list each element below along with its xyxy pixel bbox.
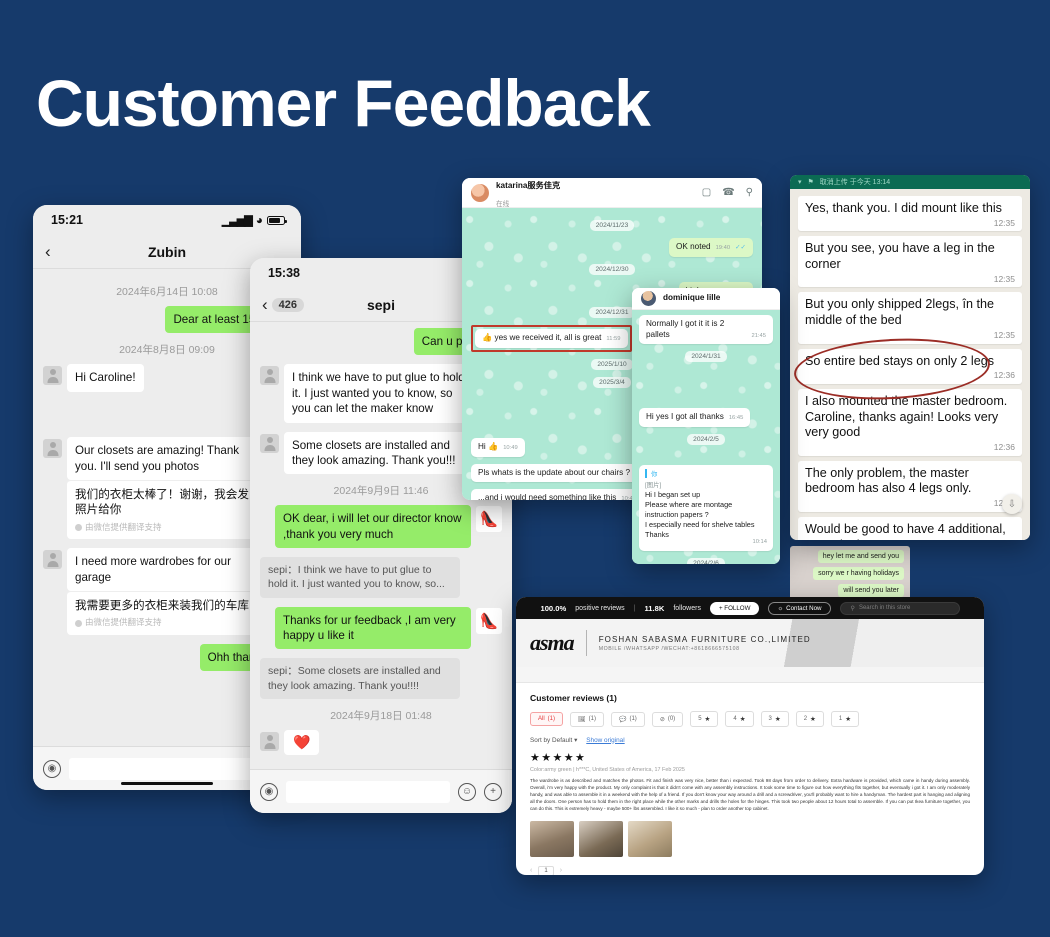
voice-record-icon[interactable]: ◉ (43, 760, 61, 778)
search-placeholder: Search in this store (859, 605, 910, 611)
date-divider: 2024/12/30 (589, 264, 634, 275)
message-time: 12:36 (805, 370, 1015, 381)
message-bubble-translation: 我们的衣柜太棒了！谢谢，我会发照片给你 由微信提供翻译支持 (67, 480, 263, 539)
message-time: 12:36 (805, 442, 1015, 453)
store-logo: asma (530, 630, 574, 656)
review-sort-row: Sort by Default ▾ Show original (530, 736, 970, 744)
message-text: Normally I got it it is 2 pallets (646, 319, 746, 340)
message-bubble-outgoing: hey let me and send you (818, 550, 904, 563)
review-photo-3[interactable] (628, 821, 672, 857)
message-text: But you see, you have a leg in the corne… (805, 241, 995, 271)
message-row: 你 [图片] Hi I began set up Please where ar… (639, 465, 773, 551)
filter-chip-1-star[interactable]: 1★ (831, 711, 859, 727)
emoji-smiley-icon[interactable]: ☺ (458, 783, 476, 801)
message-time: 12:37 (805, 498, 1015, 509)
phone-call-icon[interactable]: ☎ (722, 187, 734, 198)
message-bubble-outgoing: OK noted 19:40 ✓✓ (669, 238, 753, 257)
message-time: 10:49 (503, 445, 518, 453)
page-title: Customer Feedback (36, 70, 650, 136)
contact-name: dominique lille (663, 293, 720, 303)
filter-chip-all[interactable]: All(1) (530, 712, 563, 726)
translation-text: 我们的衣柜太棒了！谢谢，我会发照片给你 (75, 488, 249, 516)
avatar (260, 366, 279, 385)
message-bubble-incoming: Hi yes I got all thanks 16:45 (639, 408, 750, 427)
avatar (260, 434, 279, 453)
filter-chip-with-image[interactable]: 🖼(1) (570, 712, 604, 727)
message-row: ❤️ (260, 730, 502, 755)
message-text: Hi 👍 (478, 442, 498, 453)
message-bubble-incoming: I need more wardrobes for our garage (67, 548, 263, 591)
high-heel-sticker-icon: 👠 (476, 506, 502, 532)
upload-status-bar: ▾ ⚑ 取消上传 于今天 13:14 (790, 175, 1030, 189)
message-input[interactable] (69, 758, 265, 780)
quoted-message: sepi：I think we have to put glue to hold… (260, 557, 460, 597)
message-text: I also mounted the master bedroom. Carol… (805, 394, 1007, 439)
message-text: Would be good to have 4 additional, to p… (805, 522, 1006, 540)
ios-status-bar: 15:21 ▁▃▅▇ ◕ (33, 205, 301, 235)
message-time: 10:14 (752, 539, 767, 547)
message-text: Hi I began set up Please where are monta… (645, 490, 767, 539)
date-divider: 2024/2/5 (687, 434, 725, 445)
status-time: 15:21 (51, 213, 83, 227)
avatar (641, 291, 656, 306)
message-bubble-outgoing: OK dear, i will let our director know ,t… (275, 505, 471, 548)
review-body-text: The wardrobe is as described and matches… (530, 778, 970, 813)
message-input[interactable] (286, 781, 450, 803)
poster-canvas: Customer Feedback 15:21 ▁▃▅▇ ◕ ‹ Zubin 2… (0, 0, 1050, 937)
positive-reviews-pct: 100.0% (540, 604, 566, 613)
date-divider: 2025/1/10 (591, 359, 632, 370)
contact-status: 在线 (496, 201, 509, 208)
upload-status-text: 取消上传 于今天 13:14 (820, 177, 890, 187)
filter-chip-4-star[interactable]: 4★ (725, 711, 753, 727)
followers-label: followers (673, 605, 701, 612)
translation-text: 我需要更多的衣柜来装我们的车库 (75, 599, 249, 612)
chevron-down-icon: ▾ (574, 737, 577, 744)
message-time: 11:59 (606, 336, 620, 344)
review-meta: Color:army green | h***C, United States … (530, 767, 970, 773)
chat-title: Zubin (148, 244, 186, 260)
sort-dropdown[interactable]: Sort by Default ▾ (530, 736, 577, 744)
flag-icon: ⚑ (808, 178, 814, 186)
store-banner: asma FOSHAN SABASMA FURNITURE CO.,LIMITE… (516, 619, 984, 667)
store-search-input[interactable]: ⚲ Search in this store (840, 602, 960, 615)
review-photo-2[interactable] (579, 821, 623, 857)
message-bubble-incoming: Yes, thank you. I did mount like this 12… (798, 196, 1022, 231)
message-bubble-incoming: ...and i would need something like this … (471, 489, 643, 500)
avatar (471, 184, 489, 202)
message-time: 19:40 (716, 245, 731, 253)
search-icon: ⚲ (851, 605, 855, 612)
current-page[interactable]: 1 (538, 866, 553, 875)
message-row: Thanks for ur feedback ,I am very happy … (260, 607, 502, 650)
filter-chip-3-star[interactable]: 3★ (761, 711, 789, 727)
date-divider: 2024/12/31 (589, 307, 634, 318)
message-row: OK noted 19:40 ✓✓ (471, 238, 753, 257)
battery-icon (267, 216, 285, 225)
signal-bars-icon: ▁▃▅▇ (222, 214, 252, 227)
chevron-down-icon: ▾ (798, 178, 802, 186)
review-filter-chips[interactable]: All(1) 🖼(1) 💬(1) ⊘(0) 5★ 4★ 3★ 2★ 1★ (530, 711, 970, 727)
message-text: ...and i would need something like this (478, 493, 616, 500)
message-bubble-incoming: The only problem, the master bedroom has… (798, 461, 1022, 512)
avatar (260, 732, 279, 751)
message-text: Yes, thank you. I did mount like this (805, 201, 1002, 215)
message-time: 12:35 (805, 330, 1015, 341)
message-text: Pls whats is the update about our chairs… (478, 468, 630, 479)
date-divider: 2024/1/31 (685, 351, 726, 362)
wifi-icon: ◕ (256, 213, 263, 227)
voice-record-icon[interactable]: ◉ (260, 783, 278, 801)
unread-badge: 426 (272, 298, 304, 312)
quote-preview: [图片] (645, 482, 661, 489)
contact-name: katarina服务佳克 (496, 181, 560, 190)
message-time: 16:45 (729, 415, 744, 423)
message-row: Hi yes I got all thanks 16:45 (639, 408, 773, 427)
home-indicator (121, 782, 213, 786)
follow-button[interactable]: + FOLLOW (710, 602, 759, 615)
message-bubble-incoming: Would be good to have 4 additional, to p… (798, 517, 1022, 540)
avatar (43, 366, 62, 385)
message-time: 12:35 (805, 274, 1015, 285)
back-button[interactable]: ‹ 426 (262, 295, 304, 315)
followers-count: 11.8K (644, 604, 664, 613)
message-bubble-incoming: Hi 👍 10:49 (471, 438, 525, 457)
message-time: 21:45 (751, 333, 766, 341)
translation-note: 由微信提供翻译支持 (75, 617, 255, 628)
chat-header-katarina: katarina服务佳克 在线 ▢ ☎ ⚲ (462, 178, 762, 208)
chat-bubble-icon: ☼ (777, 605, 783, 612)
message-bubble-incoming: Some closets are installed and they look… (284, 432, 480, 475)
divider (586, 630, 587, 656)
chevron-right-icon[interactable]: › (560, 867, 562, 874)
message-timestamp: 2024年9月18日 01:48 (260, 708, 502, 723)
quote-author: 你 (651, 471, 657, 478)
filter-chip-other[interactable]: ⊘(0) (652, 712, 683, 727)
chat-window-bed-feedback: ▾ ⚑ 取消上传 于今天 13:14 Yes, thank you. I did… (790, 175, 1030, 540)
message-bubble-outgoing: Thanks for ur feedback ,I am very happy … (275, 607, 471, 650)
contact-now-button[interactable]: ☼ Contact Now (768, 602, 830, 615)
message-bubble-emoji: ❤️ (284, 730, 319, 755)
positive-reviews-label: positive reviews (575, 605, 624, 612)
chat-input-bar[interactable]: ◉ ☺ + (250, 769, 512, 813)
chevron-left-icon[interactable]: ‹ (530, 867, 532, 874)
high-heel-sticker-icon: 👠 (476, 608, 502, 634)
read-receipt-icon: ✓✓ (735, 244, 746, 252)
store-topbar: 100.0% positive reviews | 11.8K follower… (516, 597, 984, 619)
message-text: 👍 yes we received it, all is great (482, 333, 601, 344)
message-bubble-incoming: But you only shipped 2legs, în the middl… (798, 292, 1022, 343)
message-text: But you only shipped 2legs, în the middl… (805, 297, 994, 327)
whatsapp-window-dominique: dominique lille Normally I got it it is … (632, 288, 780, 564)
divider: | (634, 605, 636, 612)
store-tabbar[interactable] (516, 667, 984, 683)
message-bubble-outgoing: will send you later (838, 584, 904, 597)
status-time: 15:38 (268, 266, 300, 280)
message-bubble-incoming: Our closets are amazing! Thank you. I'll… (67, 437, 263, 480)
reviews-pagination[interactable]: ‹ 1 › (530, 866, 970, 875)
message-bubble-translation: 我需要更多的衣柜来装我们的车库 由微信提供翻译支持 (67, 591, 263, 635)
message-bubble-incoming: So entire bed stays on only 2 legs 12:36 (798, 349, 1022, 384)
message-row: Normally I got it it is 2 pallets 21:45 (639, 315, 773, 344)
plus-circle-icon[interactable]: + (484, 783, 502, 801)
message-bubble-incoming: 👍 yes we received it, all is great 11:59 (475, 329, 628, 348)
date-divider: 2024/2/6 (687, 558, 725, 564)
back-button[interactable]: ‹ (45, 242, 51, 262)
search-icon[interactable]: ⚲ (746, 187, 753, 198)
chat-header-dominique: dominique lille (632, 288, 780, 310)
message-bubble-incoming: Normally I got it it is 2 pallets 21:45 (639, 315, 773, 344)
message-bubble-outgoing: sorry we r having holidays (813, 567, 904, 580)
message-bubble-quoted-incoming: 你 [图片] Hi I began set up Please where ar… (639, 465, 773, 551)
message-bubble-incoming: But you see, you have a leg in the corne… (798, 236, 1022, 287)
quoted-message: sepi：Some closets are installed and they… (260, 658, 460, 698)
message-bubble-incoming: I think we have to put glue to hold it. … (284, 364, 480, 422)
message-row: OK dear, i will let our director know ,t… (260, 505, 502, 548)
translation-note: 由微信提供翻译支持 (75, 522, 255, 533)
message-bubble-incoming: Pls whats is the update about our chairs… (471, 464, 657, 483)
quoted-block: 你 [图片] (645, 469, 661, 489)
highlight-box: 👍 yes we received it, all is great 11:59 (471, 325, 632, 352)
chat-title: sepi (367, 297, 395, 313)
date-divider: 2024/11/23 (590, 220, 635, 231)
avatar (43, 439, 62, 458)
video-call-icon[interactable]: ▢ (702, 187, 711, 198)
message-bubble-highlighted: I also mounted the master bedroom. Carol… (798, 389, 1022, 456)
company-contact: MOBILE /WHATSAPP /WECHAT:+8618666575108 (599, 646, 811, 652)
storefront-window: 100.0% positive reviews | 11.8K follower… (516, 597, 984, 875)
message-text: Hi yes I got all thanks (646, 412, 724, 423)
message-bubble-incoming: Hi Caroline! (67, 364, 144, 391)
show-original-link[interactable]: Show original (586, 737, 624, 744)
message-text: The only problem, the master bedroom has… (805, 466, 971, 496)
avatar (43, 550, 62, 569)
company-name: FOSHAN SABASMA FURNITURE CO.,LIMITED (599, 635, 811, 644)
rating-stars: ★★★★★ (530, 751, 970, 764)
message-text: So entire bed stays on only 2 legs (805, 354, 994, 368)
review-photo-1[interactable] (530, 821, 574, 857)
message-time: 12:35 (805, 218, 1015, 229)
chevron-double-down-icon[interactable]: ⇩ (1002, 494, 1022, 514)
message-text: OK noted (676, 242, 711, 253)
filter-chip-with-content[interactable]: 💬(1) (611, 712, 645, 727)
date-divider: 2025/3/4 (593, 377, 631, 388)
filter-chip-2-star[interactable]: 2★ (796, 711, 824, 727)
customer-reviews-section: Customer reviews (1) All(1) 🖼(1) 💬(1) ⊘(… (516, 683, 984, 875)
message-list-bed[interactable]: Yes, thank you. I did mount like this 12… (790, 189, 1030, 540)
contact-now-label: Contact Now (786, 605, 821, 612)
review-thumbnails[interactable] (530, 821, 970, 857)
reviews-heading: Customer reviews (1) (530, 693, 970, 703)
message-list-dominique[interactable]: Normally I got it it is 2 pallets 21:45 … (632, 310, 780, 564)
filter-chip-5-star[interactable]: 5★ (690, 711, 718, 727)
